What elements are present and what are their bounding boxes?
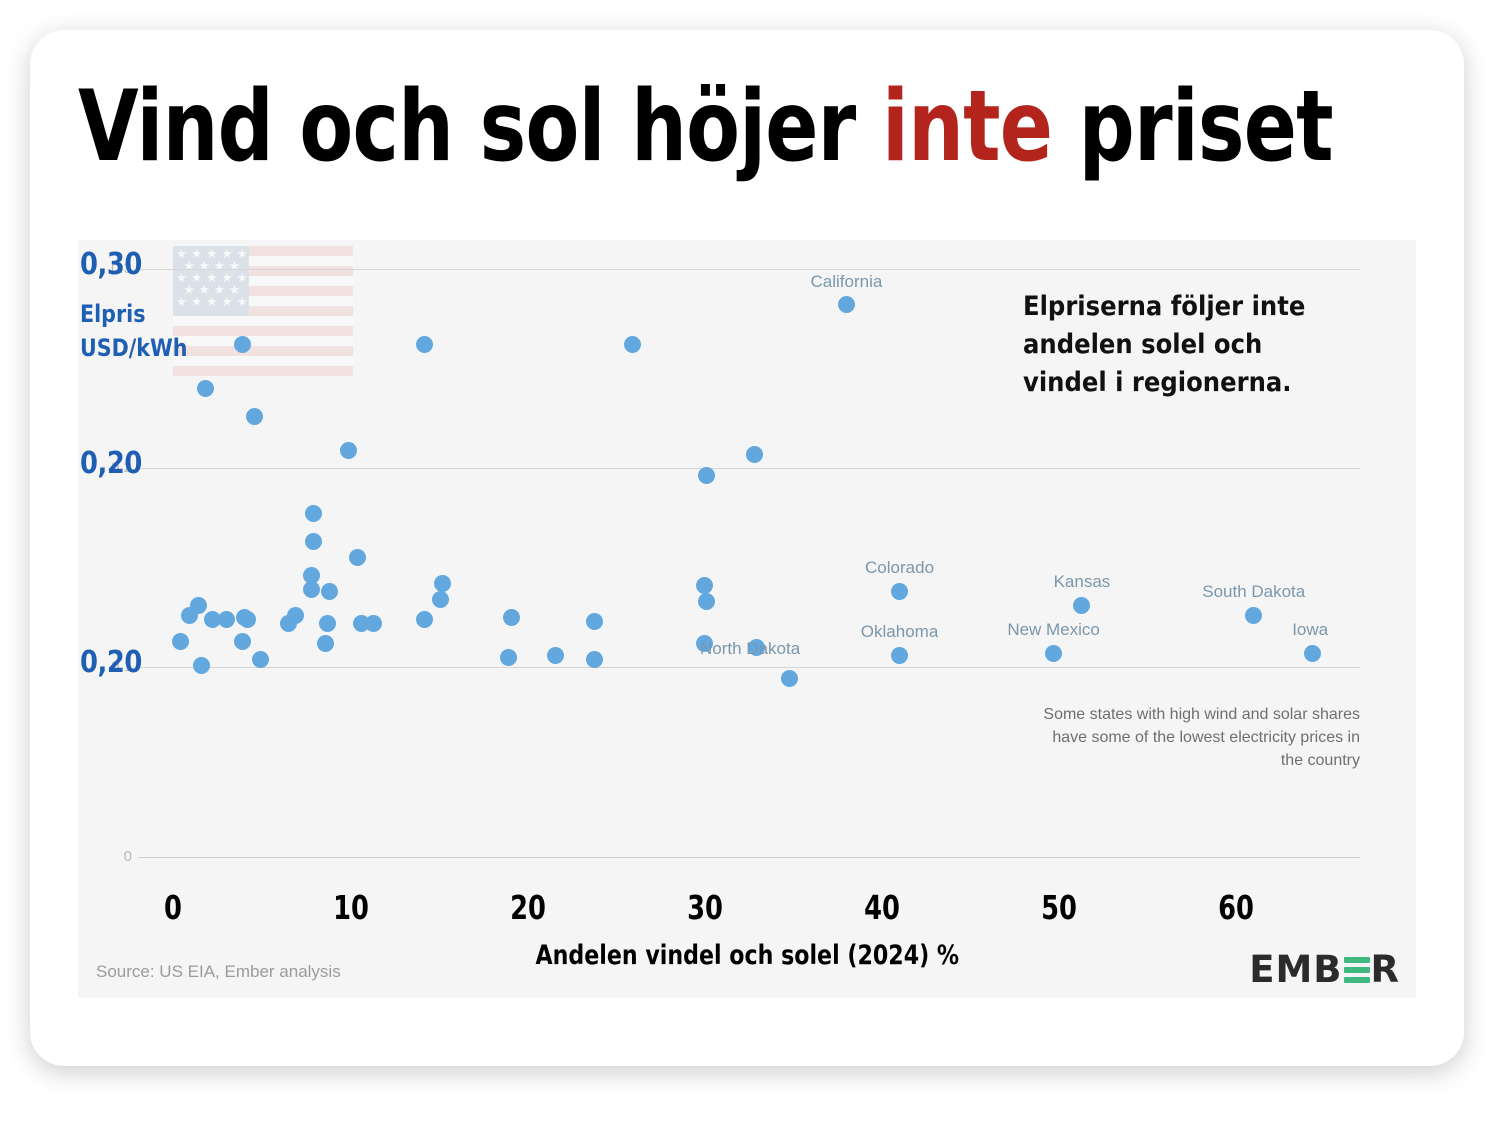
data-point[interactable] (305, 533, 322, 550)
data-point[interactable] (246, 408, 263, 425)
data-point[interactable] (218, 611, 235, 628)
x-tick-label-0: 0 (164, 888, 182, 927)
data-point[interactable] (305, 505, 322, 522)
title-part-1: Vind och sol höjer (78, 70, 882, 184)
x-tick-label-30: 30 (687, 888, 723, 927)
data-point-california[interactable] (838, 296, 855, 313)
data-point[interactable] (696, 577, 713, 594)
svg-text:★: ★ (206, 294, 217, 309)
gridline-0.3 (138, 269, 1360, 270)
data-point[interactable] (193, 657, 210, 674)
data-point[interactable] (303, 581, 320, 598)
callout-text: Elpriserna följer inte andelen solel och… (1023, 288, 1311, 401)
y-axis-title-line-2: USD/kWh (80, 333, 187, 364)
data-point-label-iowa: Iowa (1292, 620, 1328, 640)
data-point[interactable] (319, 615, 336, 632)
svg-text:★: ★ (221, 294, 232, 309)
data-point[interactable] (172, 633, 189, 650)
data-point[interactable] (252, 651, 269, 668)
data-point-south-dakota[interactable] (1245, 607, 1262, 624)
callout-line-2: andelen solel och (1023, 326, 1311, 364)
data-point[interactable] (416, 336, 433, 353)
data-point[interactable] (781, 670, 798, 687)
ember-logo-e-bars-icon (1344, 957, 1370, 984)
data-point-iowa[interactable] (1304, 645, 1321, 662)
data-point-new-mexico[interactable] (1045, 645, 1062, 662)
data-point[interactable] (698, 467, 715, 484)
data-point-label-new-mexico: New Mexico (1007, 620, 1100, 640)
data-point[interactable] (239, 611, 256, 628)
data-point[interactable] (197, 380, 214, 397)
x-tick-label-40: 40 (864, 888, 900, 927)
data-point-label-oklahoma: Oklahoma (861, 622, 938, 642)
svg-text:★: ★ (237, 294, 248, 309)
callout-line-3: vindel i regionerna. (1023, 364, 1311, 402)
ember-logo-pre: EMB (1249, 948, 1342, 991)
source-text: Source: US EIA, Ember analysis (96, 962, 341, 982)
data-point[interactable] (349, 549, 366, 566)
chart-card: Vind och sol höjer inte priset (30, 30, 1464, 1066)
x-axis-title-text: Andelen vindel och solel (2024) % (535, 940, 959, 971)
data-point-kansas[interactable] (1073, 597, 1090, 614)
data-point-label-south-dakota: South Dakota (1202, 582, 1305, 602)
data-point[interactable] (624, 336, 641, 353)
x-axis-line (138, 857, 1360, 858)
data-point[interactable] (746, 446, 763, 463)
x-tick-label-20: 20 (510, 888, 546, 927)
data-point-label-colorado: Colorado (865, 558, 934, 578)
data-point[interactable] (586, 651, 603, 668)
data-point[interactable] (500, 649, 517, 666)
data-point[interactable] (547, 647, 564, 664)
data-point[interactable] (280, 615, 297, 632)
data-point[interactable] (698, 593, 715, 610)
chart-panel: ★★★★★ ★★★★ ★★★★★ ★★★★ ★★★★★ 0.30.20.10 C… (78, 240, 1416, 998)
data-point[interactable] (181, 607, 198, 624)
data-point[interactable] (321, 583, 338, 600)
scatter-plot-area: ★★★★★ ★★★★ ★★★★★ ★★★★ ★★★★★ 0.30.20.10 C… (78, 240, 1416, 998)
data-point-colorado[interactable] (891, 583, 908, 600)
y-axis-overlay-label-low: 0,20 (80, 645, 142, 680)
y-axis-overlay-label-top: 0,30 (80, 247, 142, 282)
screenshot-root: Vind och sol höjer inte priset (0, 0, 1494, 1124)
data-point[interactable] (340, 442, 357, 459)
annotation-note: Some states with high wind and solar sha… (1038, 703, 1360, 773)
x-tick-label-50: 50 (1041, 888, 1077, 927)
data-point[interactable] (503, 609, 520, 626)
gridline-0.2 (138, 468, 1360, 469)
data-point[interactable] (416, 611, 433, 628)
data-point-label-north-dakota: North Dakota (700, 639, 800, 659)
x-tick-label-60: 60 (1218, 888, 1254, 927)
svg-text:★: ★ (176, 294, 187, 309)
data-point[interactable] (234, 633, 251, 650)
title-accent-word: inte (882, 70, 1052, 184)
us-flag-watermark: ★★★★★ ★★★★ ★★★★★ ★★★★ ★★★★★ (173, 246, 353, 376)
y-axis-overlay-label-mid: 0,20 (80, 446, 142, 481)
title-part-2: priset (1052, 70, 1333, 184)
x-tick-label-10: 10 (333, 888, 369, 927)
data-point[interactable] (432, 591, 449, 608)
data-point-label-california: California (810, 272, 882, 292)
y-tick-label-0: 0 (82, 848, 132, 865)
svg-text:★: ★ (191, 294, 202, 309)
data-point-label-kansas: Kansas (1054, 572, 1111, 592)
data-point[interactable] (234, 336, 251, 353)
gridline-0.1 (138, 667, 1360, 668)
ember-logo-post: R (1371, 948, 1401, 991)
data-point[interactable] (434, 575, 451, 592)
data-point[interactable] (317, 635, 334, 652)
callout-line-1: Elpriserna följer inte (1023, 288, 1311, 326)
page-title: Vind och sol höjer inte priset (78, 78, 1150, 176)
data-point-oklahoma[interactable] (891, 647, 908, 664)
ember-logo: EMBR (1249, 948, 1400, 991)
data-point[interactable] (586, 613, 603, 630)
data-point[interactable] (365, 615, 382, 632)
y-axis-title-line-1: Elpris (80, 299, 145, 330)
